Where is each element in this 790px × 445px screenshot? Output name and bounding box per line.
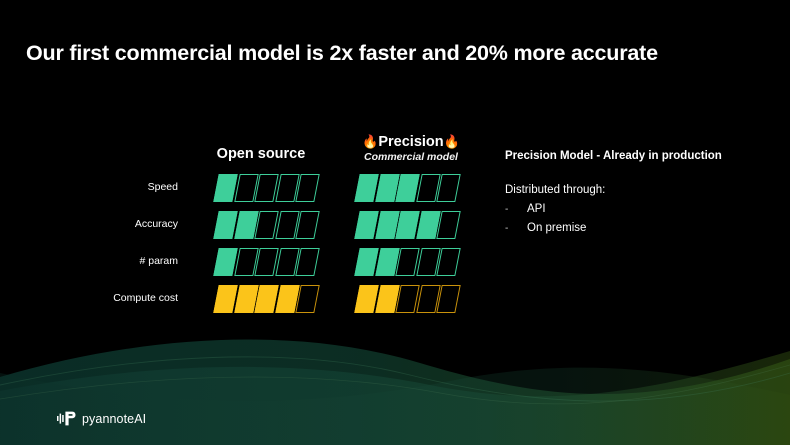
column-header-open-source: Open source bbox=[196, 146, 326, 162]
chart-row: Speed bbox=[0, 172, 480, 209]
row-label-compute-cost: Compute cost bbox=[0, 292, 178, 304]
info-panel: Precision Model - Already in production … bbox=[505, 150, 775, 236]
chart-row: # param bbox=[0, 246, 480, 283]
page-title: Our first commercial model is 2x faster … bbox=[26, 41, 658, 66]
meter-segment bbox=[295, 211, 319, 239]
slide-root: Our first commercial model is 2x faster … bbox=[0, 0, 790, 445]
row-label-param: # param bbox=[0, 255, 178, 267]
fire-icon-left: 🔥 bbox=[362, 134, 378, 149]
meter-open-source-accuracy bbox=[216, 211, 317, 239]
meter-segment bbox=[436, 248, 460, 276]
meter-segment bbox=[436, 174, 460, 202]
meter-open-source-param bbox=[216, 248, 317, 276]
row-label-speed: Speed bbox=[0, 181, 178, 193]
pyannote-logo-icon bbox=[57, 411, 76, 426]
meter-segment bbox=[436, 285, 460, 313]
row-label-accuracy: Accuracy bbox=[0, 218, 178, 230]
footer-logo: pyannoteAI bbox=[57, 411, 146, 426]
chart-row: Compute cost bbox=[0, 283, 480, 320]
list-item: - API bbox=[505, 202, 775, 217]
meter-segment bbox=[295, 248, 319, 276]
meter-precision-accuracy bbox=[357, 211, 458, 239]
meter-precision-speed bbox=[357, 174, 458, 202]
meter-segment bbox=[295, 285, 319, 313]
list-item: - On premise bbox=[505, 221, 775, 236]
bullet-text-api: API bbox=[527, 202, 546, 216]
comparison-chart: Open source 🔥Precision🔥 Commercial model… bbox=[0, 130, 480, 330]
column-title-precision-text: Precision bbox=[378, 134, 443, 150]
logo-text: pyannoteAI bbox=[82, 412, 146, 426]
meter-open-source-speed bbox=[216, 174, 317, 202]
meter-precision-compute-cost bbox=[357, 285, 458, 313]
info-bullet-list: - API - On premise bbox=[505, 202, 775, 236]
bullet-text-on-premise: On premise bbox=[527, 221, 586, 235]
bullet-dash: - bbox=[505, 221, 527, 236]
column-subtitle-precision: Commercial model bbox=[345, 151, 477, 163]
info-heading: Precision Model - Already in production bbox=[505, 150, 775, 162]
column-title-precision: 🔥Precision🔥 bbox=[345, 134, 477, 150]
fire-icon-right: 🔥 bbox=[444, 134, 460, 149]
column-title-open-source: Open source bbox=[196, 146, 326, 162]
chart-row: Accuracy bbox=[0, 209, 480, 246]
bullet-dash: - bbox=[505, 202, 527, 217]
meter-open-source-compute-cost bbox=[216, 285, 317, 313]
chart-rows: Speed Accuracy # param Compute cost bbox=[0, 172, 480, 320]
meter-segment bbox=[436, 211, 460, 239]
info-lead: Distributed through: bbox=[505, 184, 775, 196]
meter-precision-param bbox=[357, 248, 458, 276]
meter-segment bbox=[295, 174, 319, 202]
column-header-precision: 🔥Precision🔥 Commercial model bbox=[345, 134, 477, 163]
